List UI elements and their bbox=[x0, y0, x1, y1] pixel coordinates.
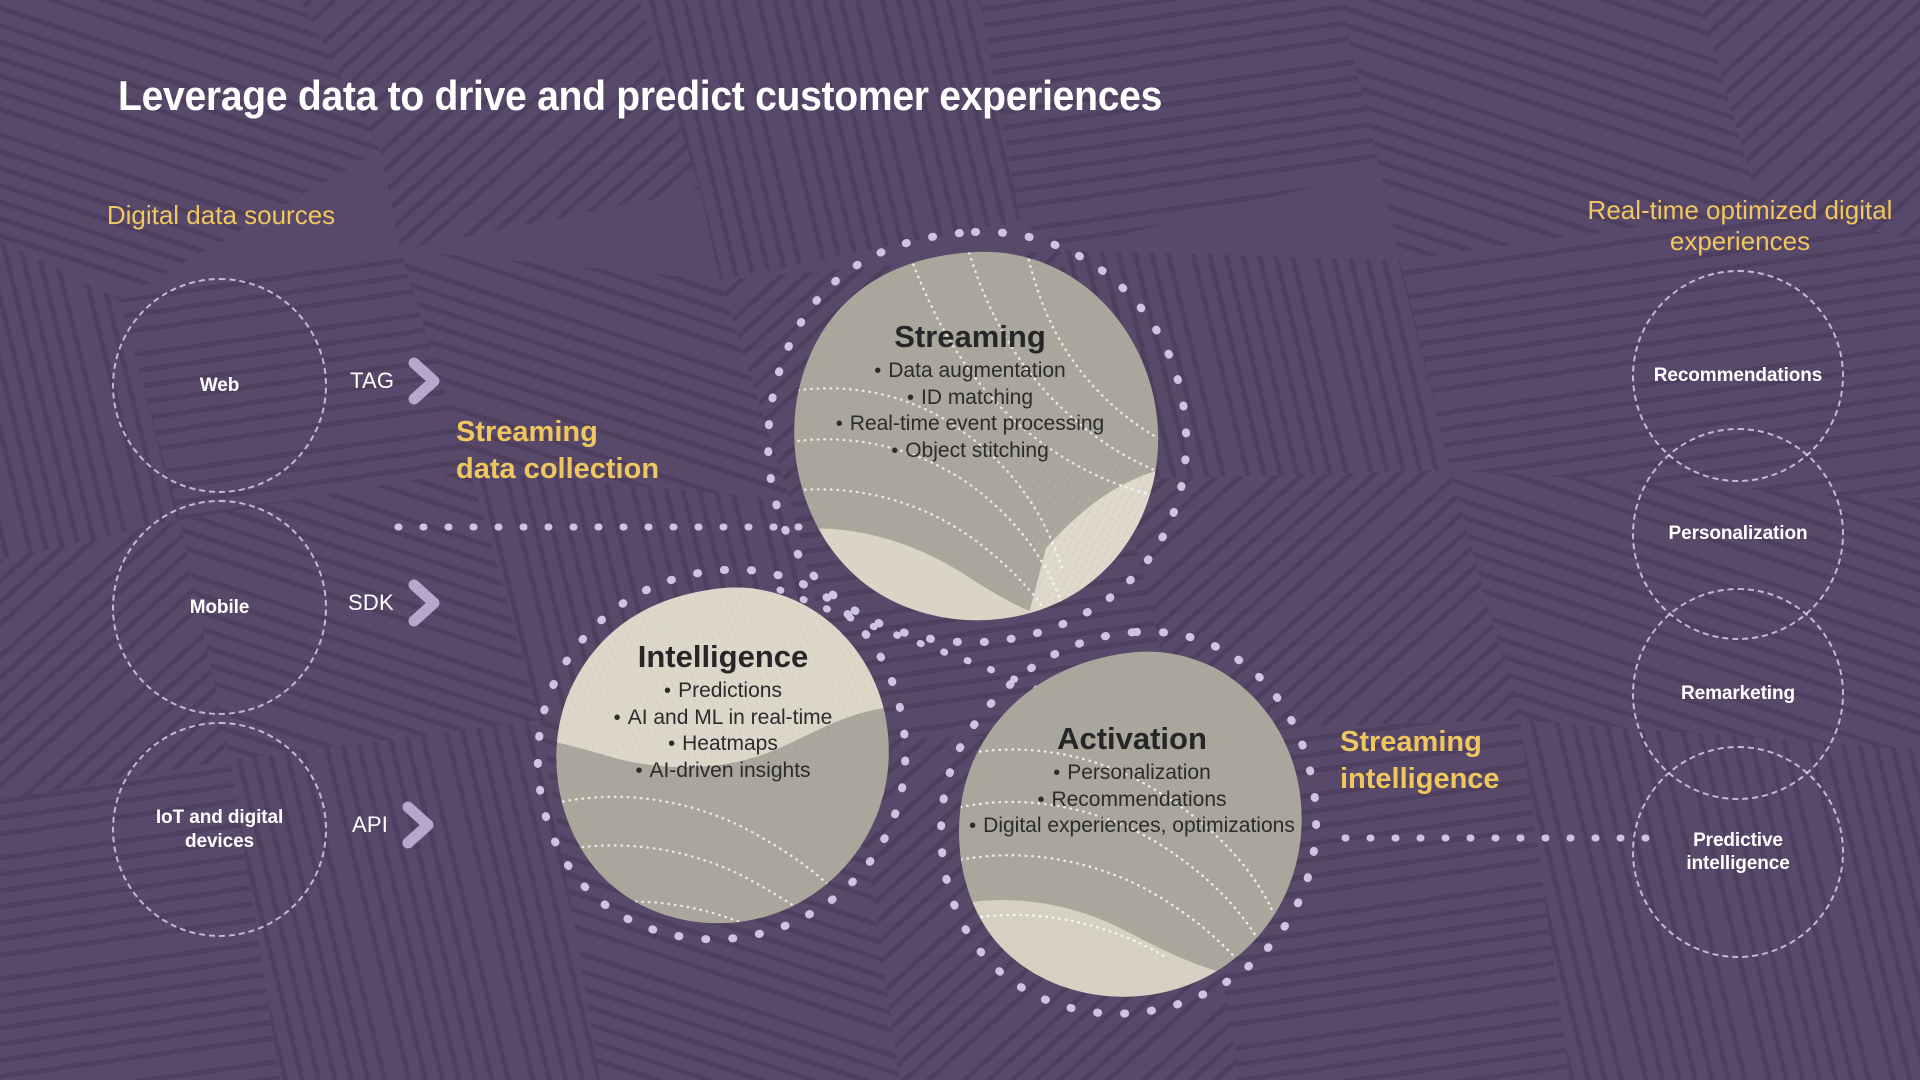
bubble-activation-content: Activation Personalization Recommendatio… bbox=[952, 722, 1312, 840]
outcome-label-personalization: Personalization bbox=[1655, 522, 1822, 545]
bubble-intelligence-list: Predictions AI and ML in real-time Heatm… bbox=[548, 678, 898, 784]
bubble-list-item: AI and ML in real-time bbox=[559, 705, 888, 731]
bubble-list-item: Predictions bbox=[559, 678, 888, 704]
bubble-intelligence-content: Intelligence Predictions AI and ML in re… bbox=[548, 640, 898, 784]
connector-label-tag: TAG bbox=[350, 368, 394, 394]
bubble-list-item: Object stitching bbox=[782, 438, 1158, 464]
callout-streaming-data-collection: Streaming data collection bbox=[456, 414, 659, 488]
bubble-list-item: AI-driven insights bbox=[559, 758, 888, 784]
outcome-label-recommendations: Recommendations bbox=[1640, 364, 1836, 387]
chevron-right-icon bbox=[408, 358, 442, 404]
bubble-streaming-content: Streaming Data augmentation ID matching … bbox=[770, 320, 1170, 464]
source-label-iot: IoT and digital devices bbox=[142, 806, 297, 852]
connector-label-sdk: SDK bbox=[348, 590, 394, 616]
outcome-label-predictive: Predictive intelligence bbox=[1672, 829, 1803, 875]
bubble-intelligence-title: Intelligence bbox=[548, 640, 898, 673]
bubble-list-item: Real-time event processing bbox=[782, 411, 1158, 437]
bubble-streaming-title: Streaming bbox=[770, 320, 1170, 353]
source-circle-mobile[interactable]: Mobile bbox=[112, 500, 327, 715]
chevron-right-icon bbox=[408, 580, 442, 626]
chevron-right-icon bbox=[402, 802, 436, 848]
diagram-canvas: Leverage data to drive and predict custo… bbox=[0, 0, 1920, 1080]
bubble-activation-list: Personalization Recommendations Digital … bbox=[952, 760, 1312, 839]
bubble-activation-title: Activation bbox=[952, 722, 1312, 755]
connector-tag: TAG bbox=[350, 358, 442, 404]
connector-sdk: SDK bbox=[348, 580, 442, 626]
connector-api: API bbox=[352, 802, 436, 848]
connector-label-api: API bbox=[352, 812, 388, 838]
realtime-experiences-heading: Real-time optimized digital experiences bbox=[1570, 195, 1910, 257]
bubble-list-item: ID matching bbox=[782, 385, 1158, 411]
bubble-list-item: Personalization bbox=[963, 760, 1301, 786]
bubble-intelligence[interactable]: Intelligence Predictions AI and ML in re… bbox=[548, 578, 898, 928]
outcome-label-remarketing: Remarketing bbox=[1667, 682, 1809, 705]
bubble-list-item: Digital experiences, optimizations bbox=[963, 813, 1301, 839]
source-circle-iot[interactable]: IoT and digital devices bbox=[112, 722, 327, 937]
bubble-activation[interactable]: Activation Personalization Recommendatio… bbox=[952, 640, 1312, 1000]
bubble-list-item: Data augmentation bbox=[782, 358, 1158, 384]
bubble-streaming-list: Data augmentation ID matching Real-time … bbox=[770, 358, 1170, 464]
source-label-mobile: Mobile bbox=[176, 596, 264, 619]
outcome-circle-predictive[interactable]: Predictive intelligence bbox=[1632, 746, 1844, 958]
bubble-list-item: Recommendations bbox=[963, 787, 1301, 813]
digital-data-sources-heading: Digital data sources bbox=[96, 200, 346, 231]
callout-streaming-intelligence: Streaming intelligence bbox=[1340, 724, 1500, 798]
page-title: Leverage data to drive and predict custo… bbox=[118, 72, 1162, 120]
bubble-list-item: Heatmaps bbox=[559, 731, 888, 757]
source-circle-web[interactable]: Web bbox=[112, 278, 327, 493]
source-label-web: Web bbox=[186, 374, 253, 397]
